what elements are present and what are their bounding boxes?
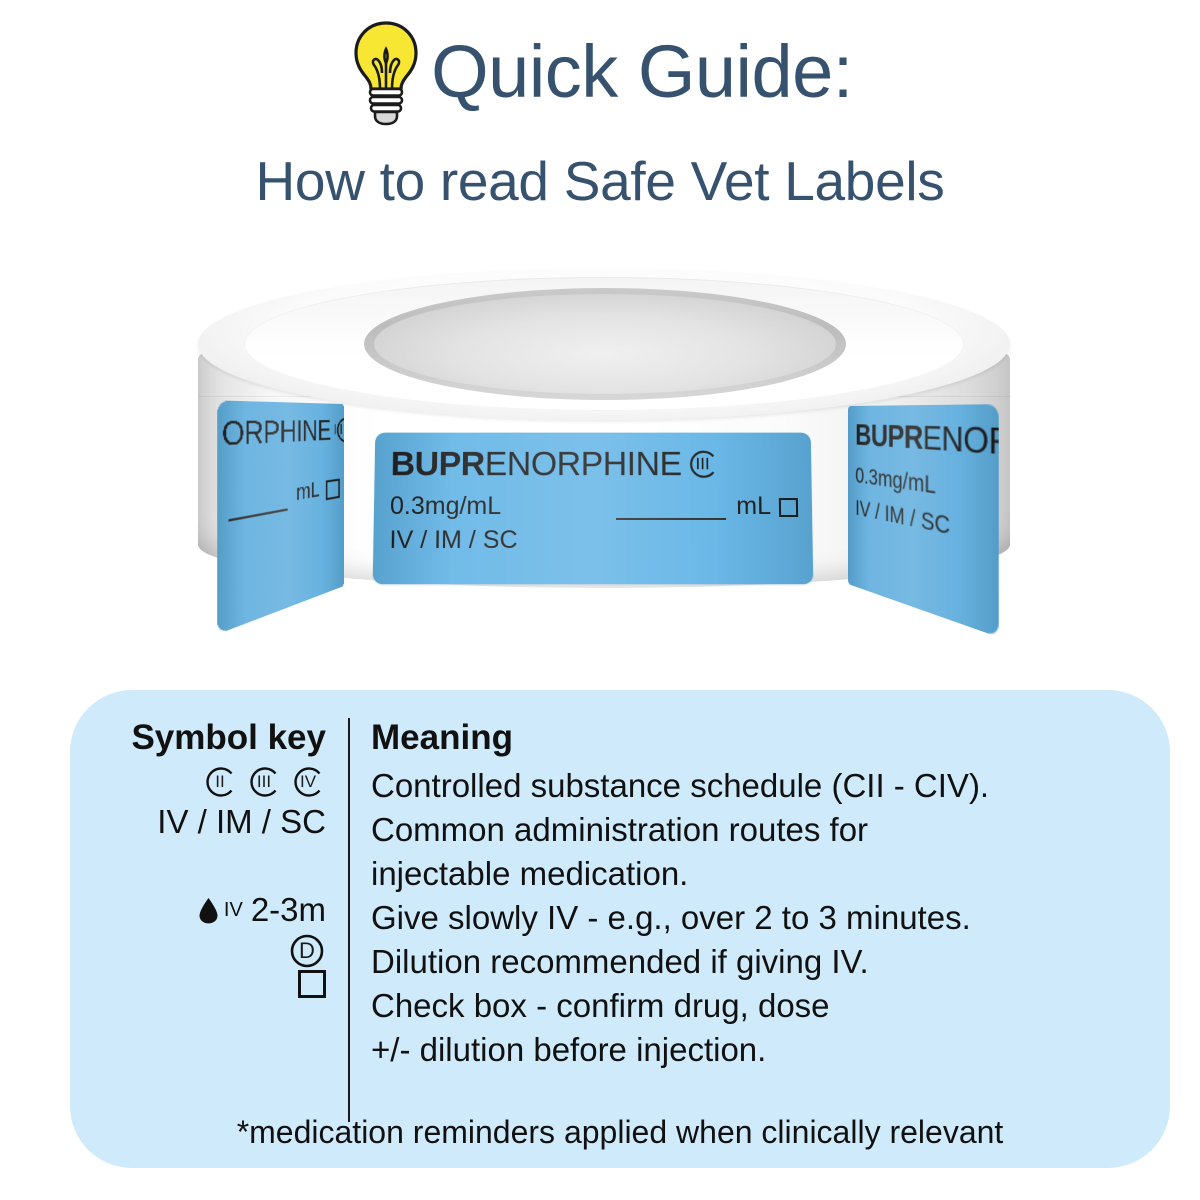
symbol-drop-label: IV: [224, 888, 243, 932]
label-drug-name-bold-right: BUPR: [855, 419, 923, 457]
symbol-row-slow-iv: IV 2-3m: [98, 888, 326, 932]
symbol-row-schedules: II III IV: [98, 764, 326, 800]
meaning-row-schedules: Controlled substance schedule (CII - CIV…: [371, 764, 1170, 808]
label-schedule-left: III: [334, 414, 343, 447]
page-title: Quick Guide:: [431, 35, 853, 109]
symbol-key-table: Symbol key II III: [70, 716, 1170, 1122]
label-roll-image: ORPHINE III mL: [0, 248, 1200, 648]
roll-label-left: ORPHINE III mL: [217, 400, 344, 634]
label-checkbox-left: [326, 479, 340, 501]
symbol-dilution-letter: D: [299, 929, 315, 973]
label-ml-center: mL: [736, 492, 771, 520]
label-write-line-center: [616, 496, 726, 520]
meaning-row-slow-iv: Give slowly IV - e.g., over 2 to 3 minut…: [371, 896, 1170, 940]
label-drug-name-left: ORPHINE: [222, 413, 331, 454]
symbol-row-routes: IV / IM / SC: [98, 800, 326, 844]
symbol-row-routes-spacer: [98, 844, 326, 888]
symbol-checkbox-icon: [298, 970, 326, 998]
label-checkbox-center: [779, 498, 798, 517]
meaning-header: Meaning: [371, 716, 1170, 764]
symbol-row-dilution: D: [98, 932, 326, 970]
roll-core-inner: [374, 294, 836, 394]
label-concentration-center: 0.3mg/mL: [390, 492, 501, 520]
symbol-schedule-iv: IV: [300, 760, 316, 804]
meaning-column: Meaning Controlled substance schedule (C…: [349, 716, 1170, 1122]
label-write-line-left: [228, 484, 287, 522]
lightbulb-icon: [347, 19, 425, 127]
panel-footnote: *medication reminders applied when clini…: [70, 1112, 1170, 1152]
meaning-row-checkbox-line2: +/- dilution before injection.: [371, 1028, 1170, 1072]
symbol-key-header: Symbol key: [98, 716, 326, 764]
symbol-slow-iv-time: 2-3m: [251, 888, 326, 932]
page-subtitle: How to read Safe Vet Labels: [0, 154, 1200, 209]
label-ml-left: mL: [296, 475, 320, 509]
meaning-row-checkbox-line1: Check box - confirm drug, dose: [371, 984, 1170, 1028]
label-drug-name-regular-right: ENORPH: [923, 420, 999, 469]
label-drug-name-regular: ENORPHINE: [485, 445, 682, 483]
meaning-row-routes-line1: Common administration routes for: [371, 808, 1170, 852]
title-row: Quick Guide:: [0, 16, 1200, 128]
label-routes-center: IV / IM / SC: [389, 526, 798, 554]
page-header: Quick Guide: How to read Safe Vet Labels: [0, 0, 1200, 209]
meaning-row-routes-line2: injectable medication.: [371, 852, 1170, 896]
symbol-schedule-ii: II: [215, 760, 224, 804]
symbol-column: Symbol key II III: [98, 716, 348, 1122]
symbol-key-panel: Symbol key II III: [70, 690, 1170, 1168]
label-schedule-center: III: [695, 444, 709, 484]
symbol-schedule-iii: III: [257, 760, 271, 804]
roll-label-right: BUPRENORPH 0.3mg/mL IV / IM / SC: [848, 404, 999, 637]
symbol-routes-text: IV / IM / SC: [157, 800, 326, 844]
label-drug-name-bold: BUPR: [390, 445, 484, 483]
roll-label-center: BUPRENORPHINE III 0.3mg/mL mL: [373, 433, 814, 585]
droplet-icon: [198, 897, 219, 924]
symbol-row-checkbox: [98, 970, 326, 998]
meaning-row-dilution: Dilution recommended if giving IV.: [371, 940, 1170, 984]
label-roll: ORPHINE III mL: [198, 268, 1010, 628]
